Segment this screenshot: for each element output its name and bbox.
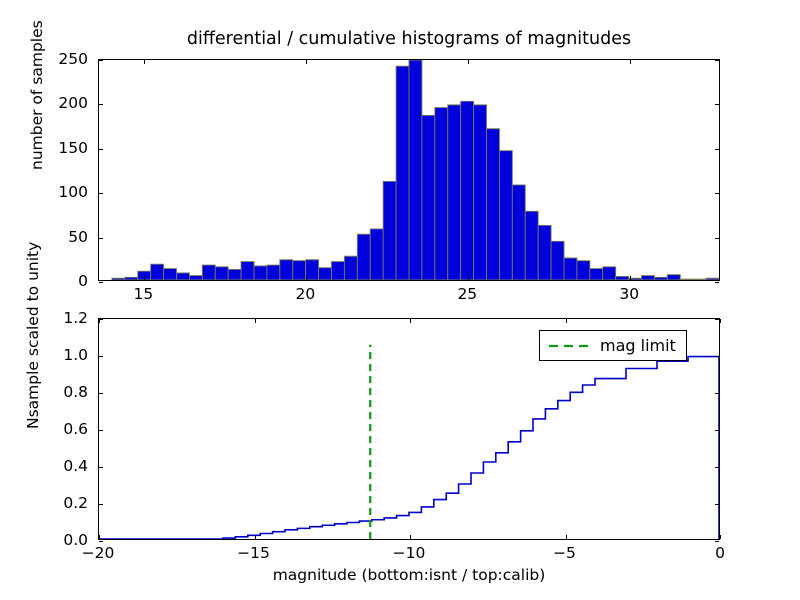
x-tick-mark — [630, 60, 631, 64]
histogram-bar — [254, 266, 267, 280]
histogram-bar — [667, 275, 680, 280]
y-tick-mark — [99, 430, 103, 431]
cumulative-line — [99, 356, 719, 539]
x-tick-label: 20 — [295, 285, 315, 303]
histogram-bar — [344, 256, 357, 280]
histogram-bar — [306, 260, 319, 280]
histogram-bar — [228, 269, 241, 280]
y-tick-mark — [715, 393, 719, 394]
histogram-bar — [706, 278, 719, 280]
x-tick-mark — [144, 60, 145, 64]
x-tick-mark — [255, 319, 256, 323]
histogram-bar — [267, 265, 280, 280]
x-tick-mark — [720, 535, 721, 539]
y-tick-mark — [99, 504, 103, 505]
histogram-bar — [564, 258, 577, 280]
y-tick-mark — [99, 467, 103, 468]
histogram-bar — [461, 101, 474, 280]
histogram-bar — [396, 66, 409, 280]
histogram-bar — [215, 267, 228, 280]
x-tick-mark — [468, 60, 469, 64]
histogram-bar — [603, 267, 616, 280]
y-tick-label: 1.0 — [63, 346, 88, 364]
histogram-bar — [499, 151, 512, 280]
y-tick-mark — [99, 193, 103, 194]
y-tick-label: 200 — [58, 94, 88, 112]
histogram-bar — [151, 264, 164, 280]
y-tick-mark — [715, 541, 719, 542]
y-tick-mark — [99, 393, 103, 394]
cumulative-y-axis-label: Nsample scaled to unity — [24, 242, 42, 429]
y-tick-label: 0.6 — [63, 420, 88, 438]
x-tick-mark — [720, 319, 721, 323]
y-tick-mark — [715, 238, 719, 239]
y-tick-mark — [99, 104, 103, 105]
y-tick-label: 50 — [68, 228, 88, 246]
y-tick-mark — [99, 149, 103, 150]
histogram-bar — [370, 229, 383, 280]
y-tick-label: 0.2 — [63, 494, 88, 512]
y-tick-mark — [99, 238, 103, 239]
page-title: differential / cumulative histograms of … — [98, 30, 720, 49]
x-tick-mark — [566, 319, 567, 323]
histogram-bar — [590, 269, 603, 280]
histogram-bar — [202, 265, 215, 280]
y-tick-mark — [715, 467, 719, 468]
x-tick-mark — [306, 60, 307, 64]
histogram-bar — [357, 234, 370, 280]
x-tick-label: −20 — [82, 544, 115, 562]
x-tick-mark — [306, 276, 307, 280]
cumulative-x-tick-labels: −20−15−10−50 — [0, 544, 800, 566]
x-tick-mark — [99, 535, 100, 539]
x-tick-mark — [410, 319, 411, 323]
y-tick-label: 0.8 — [63, 383, 88, 401]
y-tick-mark — [715, 430, 719, 431]
histogram-plot-surface — [99, 60, 719, 280]
y-tick-label: 0.4 — [63, 457, 88, 475]
histogram-bar — [616, 276, 629, 280]
x-tick-mark — [144, 276, 145, 280]
histogram-bar — [693, 279, 706, 280]
histogram-bar — [422, 115, 435, 280]
histogram-bar — [319, 268, 332, 280]
x-tick-label: 30 — [619, 285, 639, 303]
histogram-bar — [538, 225, 551, 280]
histogram-bar — [332, 262, 345, 280]
x-tick-mark — [566, 535, 567, 539]
histogram-bar — [448, 105, 461, 280]
y-tick-mark — [715, 104, 719, 105]
histogram-bar — [487, 129, 500, 280]
x-tick-label: −15 — [237, 544, 270, 562]
histogram-axes — [98, 59, 720, 281]
y-tick-label: 100 — [58, 183, 88, 201]
x-tick-label: 25 — [457, 285, 477, 303]
histogram-bars — [112, 60, 719, 280]
histogram-x-tick-labels: 15202530 — [0, 285, 800, 307]
histogram-bar — [112, 278, 125, 280]
histogram-bar — [642, 276, 655, 280]
x-tick-label: 15 — [133, 285, 153, 303]
y-tick-label: 150 — [58, 139, 88, 157]
histogram-bar — [409, 60, 422, 280]
x-tick-label: 0 — [715, 544, 725, 562]
y-tick-mark — [715, 193, 719, 194]
histogram-bar — [293, 261, 306, 280]
x-tick-mark — [255, 535, 256, 539]
legend-label-mag-limit: mag limit — [600, 336, 676, 355]
histogram-bar — [189, 276, 202, 280]
x-tick-label: −10 — [393, 544, 426, 562]
y-tick-mark — [99, 60, 103, 61]
histogram-bar — [551, 241, 564, 280]
cumulative-x-axis-label: magnitude (bottom:isnt / top:calib) — [98, 566, 720, 584]
histogram-y-axis-label: number of samples — [28, 20, 46, 170]
legend: mag limit — [539, 330, 687, 361]
histogram-svg — [99, 60, 719, 280]
histogram-bar — [241, 262, 254, 280]
histogram-bar — [164, 269, 177, 280]
y-tick-mark — [99, 356, 103, 357]
y-tick-mark — [99, 541, 103, 542]
histogram-bar — [654, 277, 667, 280]
histogram-bar — [435, 108, 448, 280]
y-tick-mark — [715, 60, 719, 61]
y-tick-mark — [715, 282, 719, 283]
histogram-bar — [280, 260, 293, 280]
y-tick-mark — [715, 149, 719, 150]
x-tick-label: −5 — [553, 544, 576, 562]
x-tick-mark — [630, 276, 631, 280]
x-tick-mark — [99, 319, 100, 323]
y-tick-label: 1.2 — [63, 309, 88, 327]
histogram-bar — [474, 105, 487, 280]
y-tick-mark — [715, 356, 719, 357]
histogram-bar — [525, 211, 538, 280]
y-tick-label: 250 — [58, 50, 88, 68]
x-tick-mark — [410, 535, 411, 539]
x-tick-mark — [468, 276, 469, 280]
y-tick-mark — [715, 504, 719, 505]
histogram-bar — [383, 181, 396, 280]
histogram-bar — [680, 279, 693, 280]
mag-limit-legend-swatch — [548, 339, 590, 353]
histogram-bar — [125, 277, 138, 280]
histogram-bar — [577, 261, 590, 280]
histogram-bar — [512, 185, 525, 280]
y-tick-mark — [99, 282, 103, 283]
histogram-bar — [177, 273, 190, 280]
y-tick-mark — [715, 319, 719, 320]
figure-canvas: differential / cumulative histograms of … — [0, 0, 800, 600]
